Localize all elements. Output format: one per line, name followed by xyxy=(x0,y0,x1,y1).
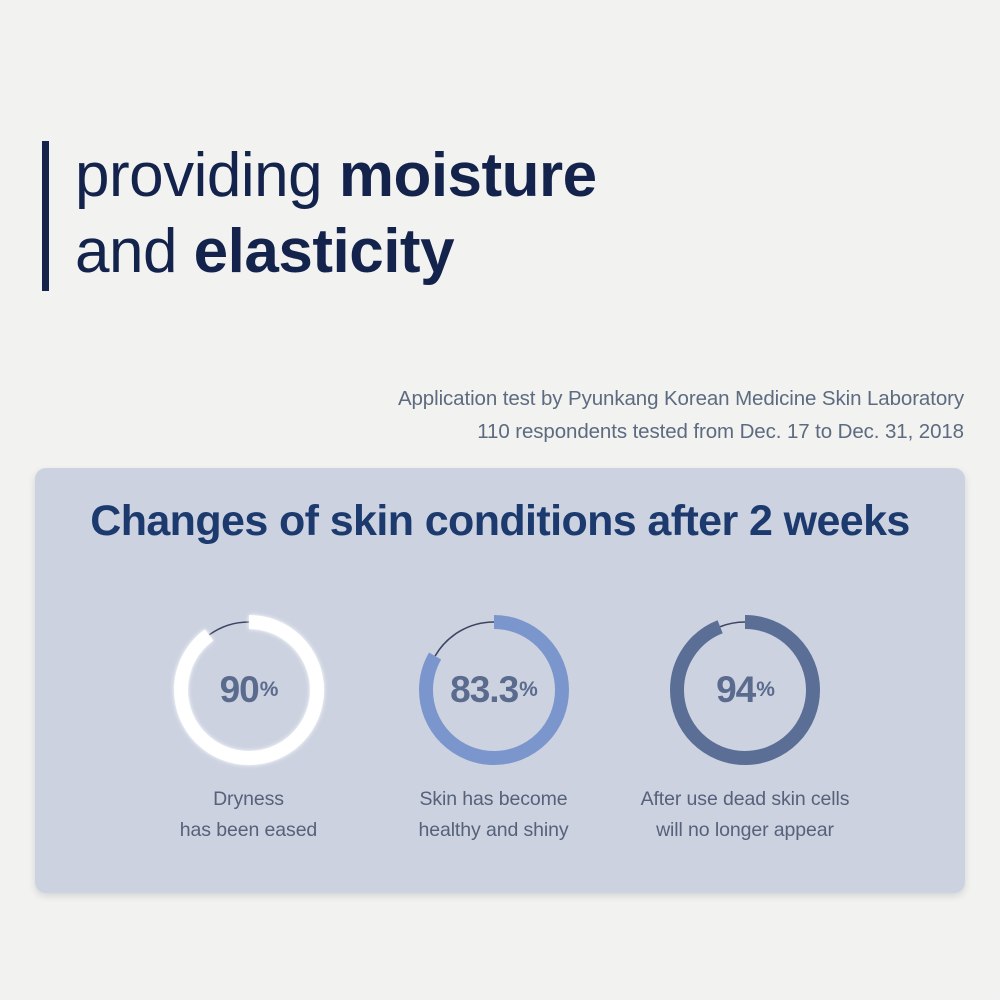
stat-caption: Skin has become healthy and shiny xyxy=(418,784,568,846)
stat-caption-line-1: After use dead skin cells xyxy=(641,784,850,815)
stat-caption-line-1: Dryness xyxy=(180,784,317,815)
donut-value-label: 90% xyxy=(174,615,324,765)
donut-value-label: 94% xyxy=(670,615,820,765)
stat-item: 94% After use dead skin cells will no lo… xyxy=(616,615,874,846)
subcaption-line-2: 110 respondents tested from Dec. 17 to D… xyxy=(398,415,964,448)
donut-percent-sign: % xyxy=(260,678,278,702)
hero-heading-text: providing moisture and elasticity xyxy=(75,138,597,289)
stat-item: 83.3% Skin has become healthy and shiny xyxy=(371,615,616,846)
stat-caption-line-2: has been eased xyxy=(180,815,317,846)
donut-chart: 83.3% xyxy=(419,615,569,765)
hero-heading-line-2: and elasticity xyxy=(75,214,597,290)
stat-caption-line-2: healthy and shiny xyxy=(418,815,568,846)
hero-line2-light: and xyxy=(75,217,194,286)
stat-item: 90% Dryness has been eased xyxy=(126,615,371,846)
stat-caption: Dryness has been eased xyxy=(180,784,317,846)
donut-percent-sign: % xyxy=(519,678,537,702)
subcaption-line-1: Application test by Pyunkang Korean Medi… xyxy=(398,382,964,415)
hero-line1-bold: moisture xyxy=(339,141,597,210)
stat-caption-line-1: Skin has become xyxy=(418,784,568,815)
donut-value-number: 94 xyxy=(716,669,755,711)
hero-heading-line-1: providing moisture xyxy=(75,138,597,214)
donut-chart: 94% xyxy=(670,615,820,765)
study-subcaption: Application test by Pyunkang Korean Medi… xyxy=(398,382,964,448)
donut-value-number: 83.3 xyxy=(450,669,518,711)
hero-line1-light: providing xyxy=(75,141,339,210)
stat-caption: After use dead skin cells will no longer… xyxy=(641,784,850,846)
results-card: Changes of skin conditions after 2 weeks… xyxy=(35,468,965,893)
hero-accent-bar xyxy=(42,141,49,291)
donut-percent-sign: % xyxy=(756,678,774,702)
hero-line2-bold: elasticity xyxy=(194,217,454,286)
stat-caption-line-2: will no longer appear xyxy=(641,815,850,846)
card-title: Changes of skin conditions after 2 weeks xyxy=(35,497,965,546)
hero-heading: providing moisture and elasticity xyxy=(42,138,597,291)
donut-chart: 90% xyxy=(174,615,324,765)
donut-value-number: 90 xyxy=(220,669,259,711)
donut-value-label: 83.3% xyxy=(419,615,569,765)
donut-stats-row: 90% Dryness has been eased 83.3% Skin ha… xyxy=(35,615,965,846)
